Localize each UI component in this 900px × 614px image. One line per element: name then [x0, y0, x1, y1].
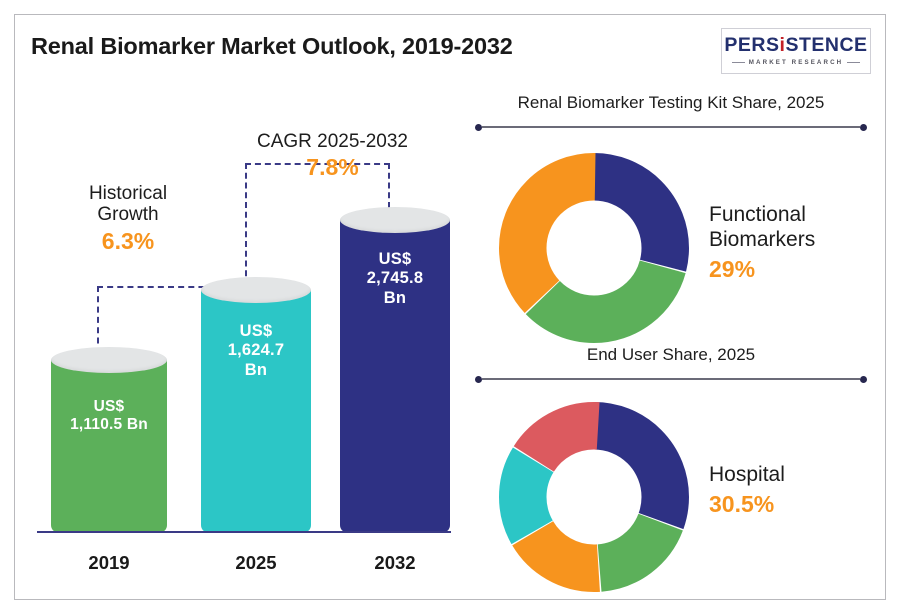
donut-2-legend: Hospital 30.5%: [709, 463, 785, 518]
bar-2019-cap: [51, 347, 167, 373]
donut-chart-2: [499, 402, 689, 592]
divider-line: [482, 126, 860, 128]
divider-dot-left: [475, 376, 482, 383]
donut-chart-1: [499, 153, 689, 343]
divider-dot-left: [475, 124, 482, 131]
xtick-2032: 2032: [340, 552, 450, 574]
donut-1-legend: FunctionalBiomarkers 29%: [709, 203, 815, 283]
page-title: Renal Biomarker Market Outlook, 2019-203…: [31, 33, 513, 60]
logo-rule-left: [732, 62, 745, 63]
callout-historical: Historical Growth 6.3%: [53, 183, 203, 255]
donut-1-legend-value: 29%: [709, 256, 815, 283]
callout-historical-label-line1: Historical: [53, 183, 203, 204]
logo-rule-right: [847, 62, 860, 63]
bar-2025-value-label: US$1,624.7Bn: [201, 322, 311, 380]
divider-dot-right: [860, 124, 867, 131]
donut-1-legend-label: FunctionalBiomarkers: [709, 203, 815, 253]
logo-wordmark-part-b: STENCE: [785, 34, 867, 56]
axis-baseline: [37, 531, 451, 533]
donut-2-svg: [499, 402, 689, 592]
donut-1-divider: [475, 123, 867, 131]
donut-2-legend-value: 30.5%: [709, 491, 785, 518]
bar-2032-value-label: US$2,745.8Bn: [340, 250, 450, 308]
bar-2025: US$1,624.7Bn: [201, 290, 311, 532]
donut-2-title: End User Share, 2025: [457, 345, 885, 365]
donut-2-divider: [475, 375, 867, 383]
donut-1-title: Renal Biomarker Testing Kit Share, 2025: [457, 93, 885, 113]
callout-forecast: CAGR 2025-2032 7.8%: [230, 131, 435, 181]
bar-2032-cap: [340, 207, 450, 233]
divider-dot-right: [860, 376, 867, 383]
bar-2019: US$1,110.5 Bn: [51, 360, 167, 532]
divider-line: [482, 378, 860, 380]
bar-2025-cap: [201, 277, 311, 303]
infographic-frame: Renal Biomarker Market Outlook, 2019-203…: [14, 14, 886, 600]
company-logo: PERSiSTENCE MARKET RESEARCH: [721, 28, 871, 74]
donut-1-svg: [499, 153, 689, 343]
logo-wordmark-part-a: PERS: [724, 34, 779, 56]
bar-2019-body: [51, 360, 167, 532]
logo-subtitle-row: MARKET RESEARCH: [732, 59, 860, 66]
xtick-2019: 2019: [51, 552, 167, 574]
testing-kit-share-panel: Renal Biomarker Testing Kit Share, 2025 …: [457, 93, 885, 343]
bar-2032: US$2,745.8Bn: [340, 220, 450, 532]
callout-historical-label-line2: Growth: [53, 204, 203, 225]
callout-historical-value: 6.3%: [53, 228, 203, 255]
bar-chart: Historical Growth 6.3% CAGR 2025-2032 7.…: [15, 87, 457, 599]
logo-wordmark: PERSiSTENCE: [724, 36, 867, 56]
callout-forecast-label: CAGR 2025-2032: [230, 131, 435, 152]
donut-2-legend-label: Hospital: [709, 463, 785, 488]
callout-forecast-value: 7.8%: [230, 154, 435, 181]
xtick-2025: 2025: [201, 552, 311, 574]
bar-2019-value-label: US$1,110.5 Bn: [51, 398, 167, 435]
end-user-share-panel: End User Share, 2025 Hospital 30.5%: [457, 345, 885, 599]
logo-subtitle: MARKET RESEARCH: [749, 59, 843, 66]
